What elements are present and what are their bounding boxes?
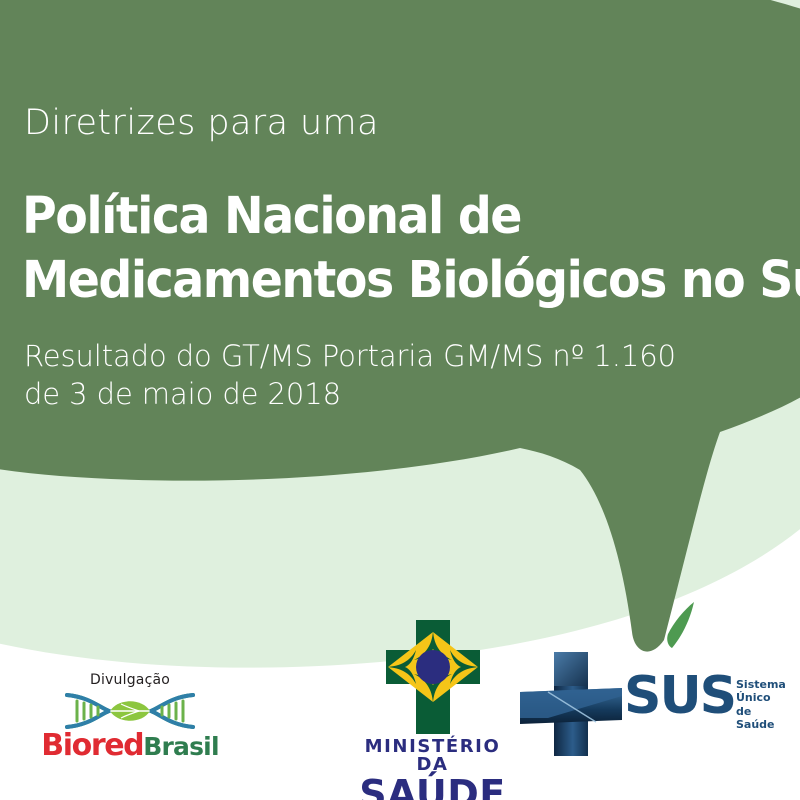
subtitle-line-1: Resultado do GT/MS Portaria GM/MS nº 1.1… bbox=[24, 337, 792, 375]
brazil-cross-icon bbox=[372, 618, 494, 736]
sus-logo: SUS Sistema Único de Saúde bbox=[518, 648, 783, 763]
biored-wordmark: BioredBrasil bbox=[30, 731, 230, 761]
ministerio-saude-logo: MINISTÉRIO DA SAÚDE bbox=[350, 618, 515, 800]
poster-canvas: Diretrizes para uma Política Nacional de… bbox=[0, 0, 800, 800]
subtitle-group: Resultado do GT/MS Portaria GM/MS nº 1.1… bbox=[22, 337, 792, 414]
divulgacao-label: Divulgação bbox=[30, 672, 230, 688]
ministerio-label-line-2: SAÚDE bbox=[350, 775, 515, 800]
eyebrow-text: Diretrizes para uma bbox=[24, 104, 792, 143]
sus-tagline: Sistema Único de Saúde bbox=[736, 678, 786, 732]
headline-group: Política Nacional de Medicamentos Biológ… bbox=[22, 187, 792, 311]
headline-line-2: Medicamentos Biológicos no Sus bbox=[22, 251, 738, 311]
headline-text-block: Diretrizes para uma Política Nacional de… bbox=[22, 104, 792, 413]
subtitle-line-2: de 3 de maio de 2018 bbox=[24, 375, 792, 413]
sus-wordmark: SUS bbox=[624, 670, 735, 722]
footer-logo-row: Divulgação bbox=[0, 600, 800, 800]
headline-line-1: Política Nacional de bbox=[22, 187, 738, 247]
ministerio-label-line-1: MINISTÉRIO DA bbox=[350, 738, 515, 774]
dna-leaf-icon bbox=[63, 691, 197, 731]
biored-word-red: Biored bbox=[41, 728, 143, 763]
sus-green-flourish-icon bbox=[660, 602, 700, 652]
biored-brasil-logo: Divulgação bbox=[30, 672, 230, 761]
sus-cross-icon bbox=[518, 648, 630, 760]
biored-word-green: Brasil bbox=[143, 732, 218, 761]
